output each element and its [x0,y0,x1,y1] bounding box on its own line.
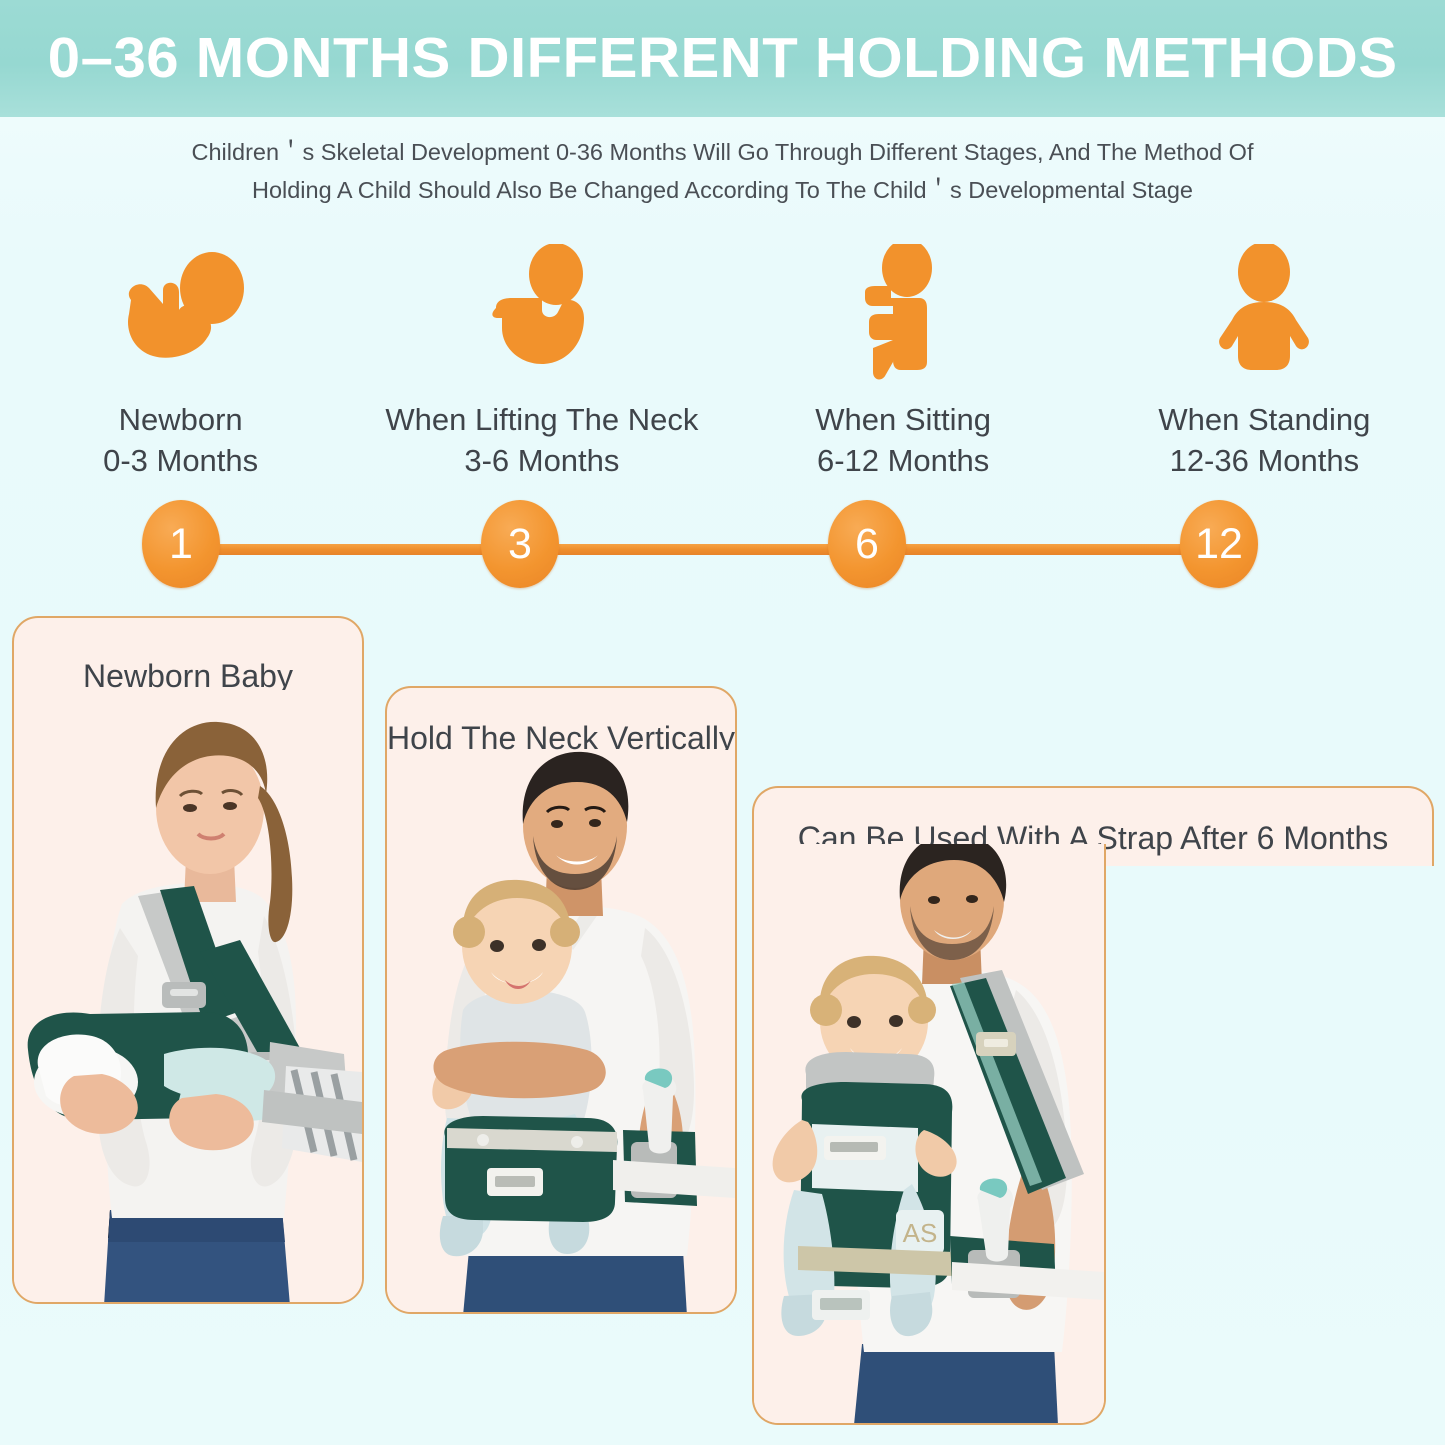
stage-label-sitting: When Sitting 6-12 Months [815,400,991,482]
stage-months: 12-36 Months [1158,441,1370,482]
subtitle-text: Children＇s Skeletal Development 0-36 Mon… [0,133,1445,209]
stage-title: Newborn [103,400,258,441]
stage-item-sitting: When Sitting 6-12 Months [723,244,1084,494]
stage-months: 3-6 Months [385,441,698,482]
timeline-marker-12[interactable]: 12 [1180,500,1258,588]
stage-row: Newborn 0-3 Months When Lifting The Neck… [0,244,1445,494]
stage-title: When Sitting [815,400,991,441]
stage-item-standing: When Standing 12-36 Months [1084,244,1445,494]
stage-label-lifting-neck: When Lifting The Neck 3-6 Months [385,400,698,482]
photo-card-title: Newborn Baby [14,660,362,692]
subtitle-line-1: Children＇s Skeletal Development 0-36 Mon… [150,133,1295,171]
baby-standing-icon [1194,244,1334,380]
svg-text:AS: AS [903,1218,938,1248]
photo-card-strap-body: AS [752,844,1106,1425]
subtitle-line-2: Holding A Child Should Also Be Changed A… [150,171,1295,209]
infographic-page: 0–36 MONTHS DIFFERENT HOLDING METHODS Ch… [0,0,1445,1445]
timeline-marker-6[interactable]: 6 [828,500,906,588]
stage-title: When Standing [1158,400,1370,441]
photo-strap-carry: AS [754,844,1104,1425]
baby-lifting-neck-icon [472,244,612,380]
stage-item-lifting-neck: When Lifting The Neck 3-6 Months [361,244,722,494]
timeline-line [180,544,1230,555]
stage-label-newborn: Newborn 0-3 Months [103,400,258,482]
stage-label-standing: When Standing 12-36 Months [1158,400,1370,482]
timeline-marker-3[interactable]: 3 [481,500,559,588]
photo-card-hold-neck: Hold The Neck Vertically (3-6 Months) [385,686,737,1314]
stage-item-newborn: Newborn 0-3 Months [0,244,361,494]
page-title: 0–36 MONTHS DIFFERENT HOLDING METHODS [48,30,1398,87]
photo-hold-neck-vertically [387,750,735,1314]
stage-months: 6-12 Months [815,441,991,482]
photo-card-newborn: Newborn Baby [12,616,364,1304]
age-timeline: 1 3 6 12 [0,500,1445,600]
stage-months: 0-3 Months [103,441,258,482]
baby-sitting-icon [833,244,973,380]
stage-title: When Lifting The Neck [385,400,698,441]
photo-newborn-carry [14,690,362,1304]
baby-lying-icon [111,244,251,380]
timeline-marker-1[interactable]: 1 [142,500,220,588]
header-banner: 0–36 MONTHS DIFFERENT HOLDING METHODS [0,0,1445,117]
